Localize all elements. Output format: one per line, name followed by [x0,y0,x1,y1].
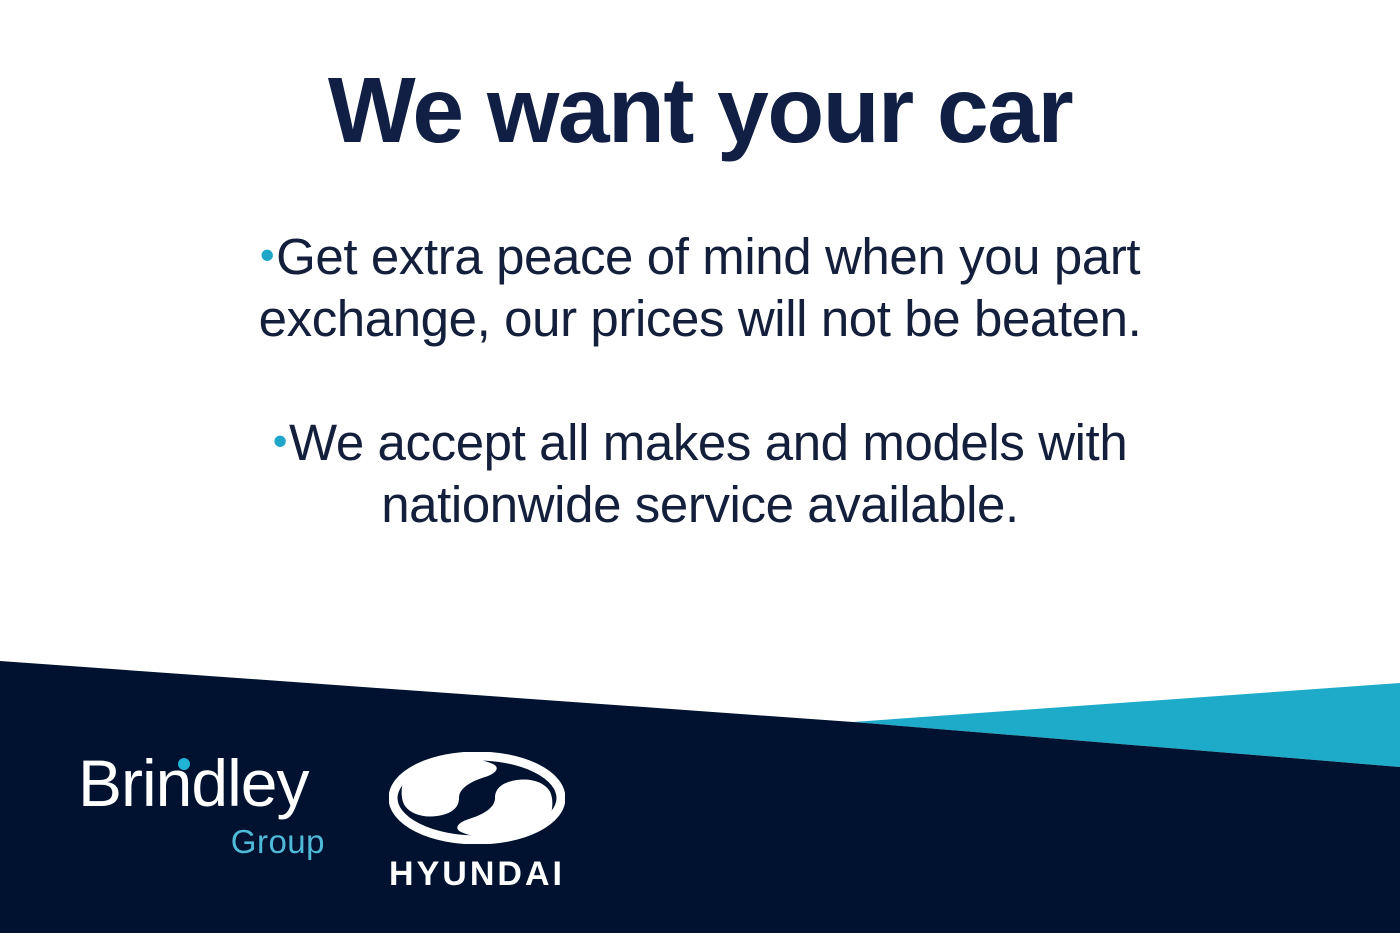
logo-lockup: Brindley Group HYUNDAI [78,748,582,892]
brindley-i-dot-icon [178,758,190,770]
brindley-subtitle: Group [78,824,328,860]
promo-poster: We want your car •Get extra peace of min… [0,0,1400,933]
hyundai-logo: HYUNDAI [372,748,582,892]
brindley-group-logo: Brindley Group [78,748,328,860]
hyundai-oval-h-icon [389,752,565,844]
hyundai-wordmark: HYUNDAI [372,856,582,892]
brindley-wordmark: Brindley [78,748,328,818]
